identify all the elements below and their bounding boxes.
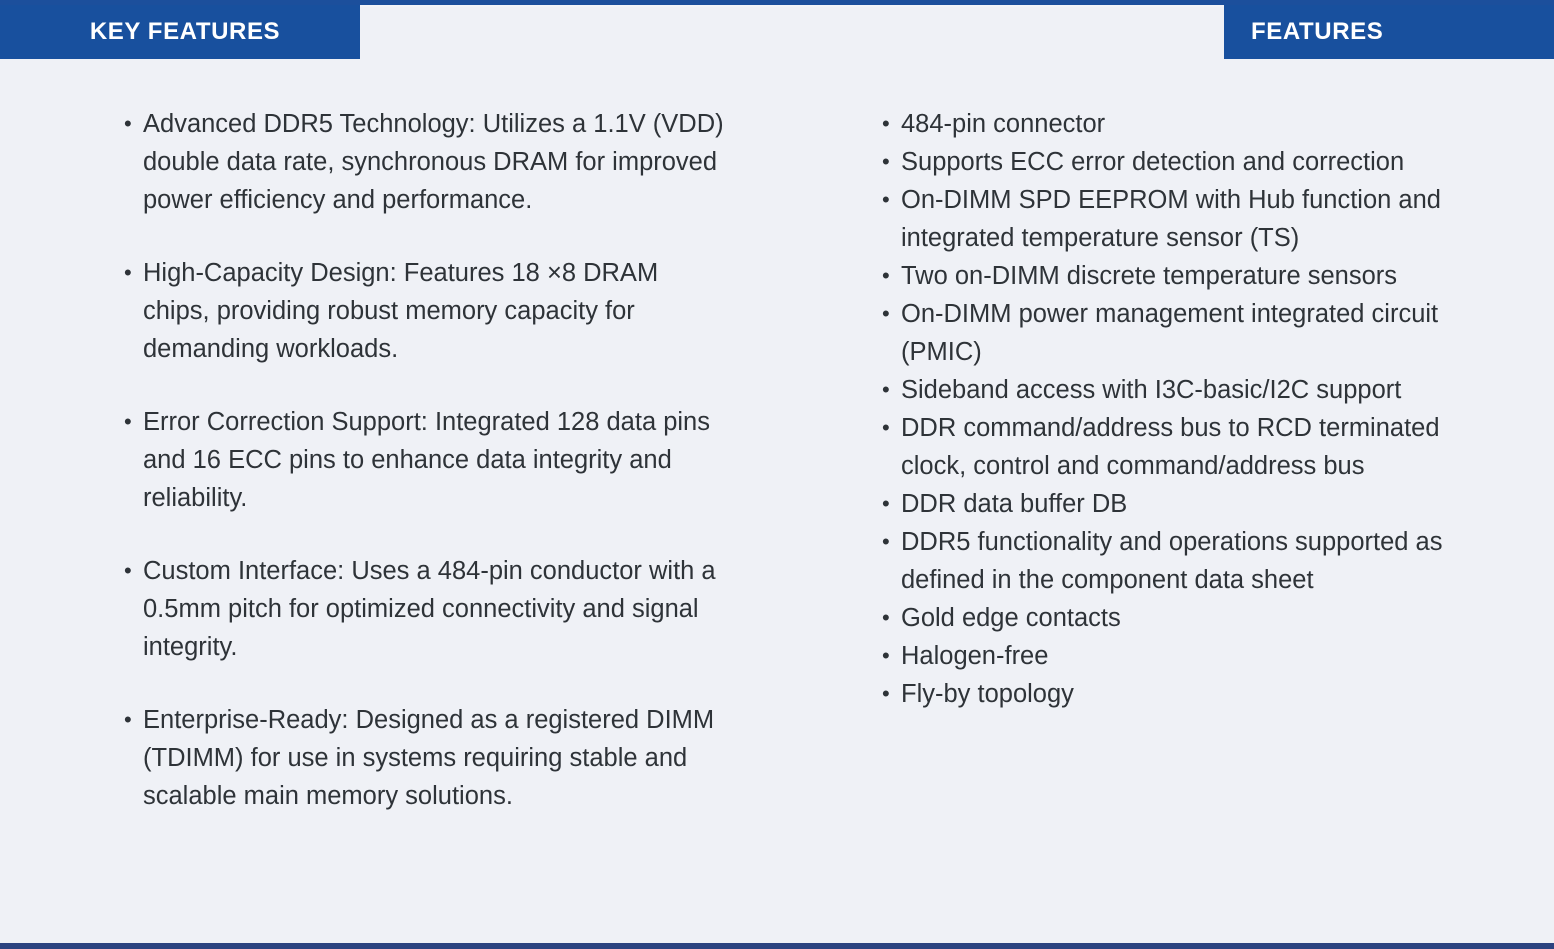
list-item-text: Fly-by topology — [901, 675, 1488, 713]
list-item-text: DDR5 functionality and operations suppor… — [901, 523, 1488, 599]
list-item: •On-DIMM power management integrated cir… — [868, 295, 1488, 371]
list-item-text: 484-pin connector — [901, 105, 1488, 143]
list-item: •On-DIMM SPD EEPROM with Hub function an… — [868, 181, 1488, 257]
list-item: •Enterprise-Ready: Designed as a registe… — [110, 701, 730, 815]
panel-header-row: KEY FEATURES FEATURES — [0, 5, 1554, 59]
bullet-icon: • — [882, 371, 890, 409]
list-item: •Custom Interface: Uses a 484-pin conduc… — [110, 552, 730, 666]
list-item-text: Two on-DIMM discrete temperature sensors — [901, 257, 1488, 295]
bullet-icon: • — [882, 485, 890, 523]
key-features-column: •Advanced DDR5 Technology: Utilizes a 1.… — [110, 59, 730, 815]
bullet-icon: • — [124, 105, 132, 143]
bullet-icon: • — [882, 257, 890, 295]
key-features-header-bar: KEY FEATURES — [0, 5, 360, 59]
bullet-icon: • — [882, 409, 890, 447]
bullet-icon: • — [882, 295, 890, 333]
list-item: •Advanced DDR5 Technology: Utilizes a 1.… — [110, 105, 730, 219]
list-item: •Error Correction Support: Integrated 12… — [110, 403, 730, 517]
list-item-text: Halogen-free — [901, 637, 1488, 675]
list-item-text: Custom Interface: Uses a 484-pin conduct… — [143, 552, 730, 666]
features-list: •484-pin connector•Supports ECC error de… — [868, 105, 1488, 713]
list-item-text: Error Correction Support: Integrated 128… — [143, 403, 730, 517]
bullet-icon: • — [882, 599, 890, 637]
features-header-bar: FEATURES — [1224, 5, 1554, 59]
key-features-list: •Advanced DDR5 Technology: Utilizes a 1.… — [110, 105, 730, 815]
bullet-icon: • — [882, 637, 890, 675]
list-item: •DDR data buffer DB — [868, 485, 1488, 523]
panel-columns: •Advanced DDR5 Technology: Utilizes a 1.… — [0, 59, 1554, 948]
list-item: •Gold edge contacts — [868, 599, 1488, 637]
list-item-text: Enterprise-Ready: Designed as a register… — [143, 701, 730, 815]
list-item-text: High-Capacity Design: Features 18 ×8 DRA… — [143, 254, 730, 368]
bullet-icon: • — [124, 701, 132, 739]
feature-comparison-panel: KEY FEATURES FEATURES •Advanced DDR5 Tec… — [0, 0, 1554, 949]
features-column: •484-pin connector•Supports ECC error de… — [868, 59, 1488, 713]
list-item: •Fly-by topology — [868, 675, 1488, 713]
list-item-text: Sideband access with I3C-basic/I2C suppo… — [901, 371, 1488, 409]
list-item-text: On-DIMM SPD EEPROM with Hub function and… — [901, 181, 1488, 257]
bullet-icon: • — [882, 523, 890, 561]
list-item: •High-Capacity Design: Features 18 ×8 DR… — [110, 254, 730, 368]
list-item: •Sideband access with I3C-basic/I2C supp… — [868, 371, 1488, 409]
bullet-icon: • — [882, 143, 890, 181]
list-item: •Halogen-free — [868, 637, 1488, 675]
list-item: •Two on-DIMM discrete temperature sensor… — [868, 257, 1488, 295]
list-item-text: Supports ECC error detection and correct… — [901, 143, 1488, 181]
list-item-text: Gold edge contacts — [901, 599, 1488, 637]
list-item: •Supports ECC error detection and correc… — [868, 143, 1488, 181]
list-item-text: On-DIMM power management integrated circ… — [901, 295, 1488, 371]
list-item: •484-pin connector — [868, 105, 1488, 143]
bullet-icon: • — [882, 105, 890, 143]
list-item-text: Advanced DDR5 Technology: Utilizes a 1.1… — [143, 105, 730, 219]
list-item-text: DDR data buffer DB — [901, 485, 1488, 523]
key-features-title: KEY FEATURES — [90, 20, 280, 44]
list-item: •DDR5 functionality and operations suppo… — [868, 523, 1488, 599]
list-item: •DDR command/address bus to RCD terminat… — [868, 409, 1488, 485]
bullet-icon: • — [882, 181, 890, 219]
bullet-icon: • — [882, 675, 890, 713]
bullet-icon: • — [124, 403, 132, 441]
features-title: FEATURES — [1251, 20, 1383, 44]
bullet-icon: • — [124, 254, 132, 292]
list-item-text: DDR command/address bus to RCD terminate… — [901, 409, 1488, 485]
bullet-icon: • — [124, 552, 132, 590]
